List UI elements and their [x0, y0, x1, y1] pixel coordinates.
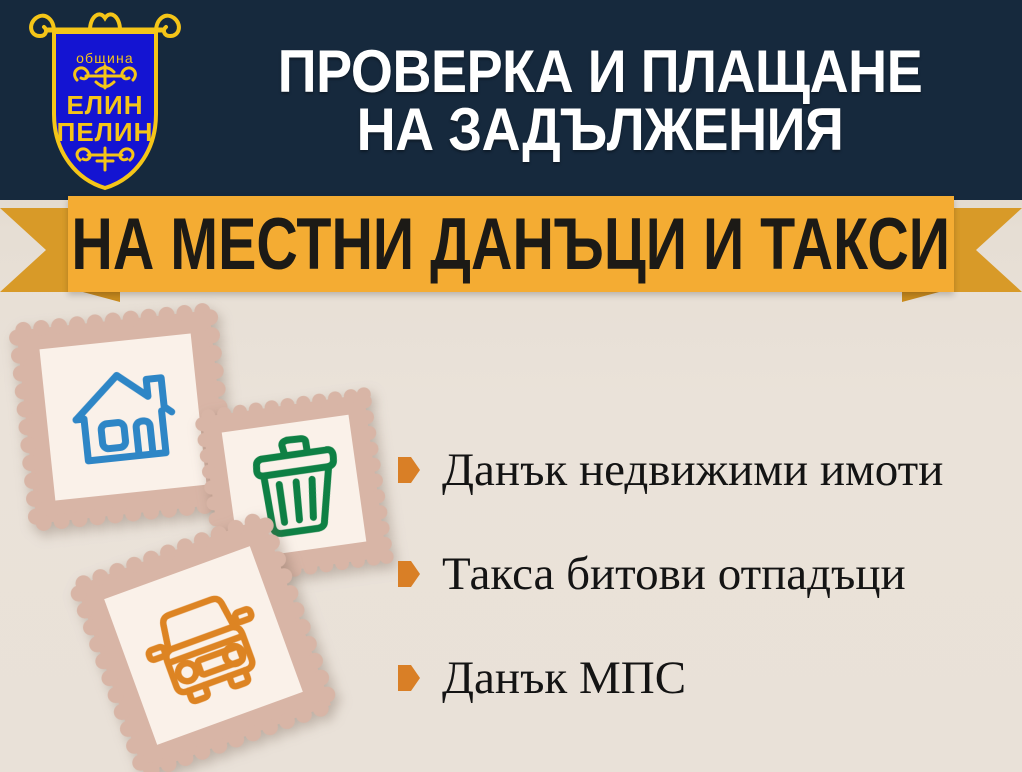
page-title: ПРОВЕРКА И ПЛАЩАНЕ НА ЗАДЪЛЖЕНИЯ: [227, 16, 972, 186]
list-item-label: Данък недвижими имоти: [442, 447, 943, 494]
svg-text:ЕЛИН: ЕЛИН: [66, 90, 143, 120]
poster-root: община ЕЛИН ПЕЛИН: [0, 0, 1022, 772]
subtitle-ribbon: НА МЕСТНИ ДАНЪЦИ И ТАКСИ: [0, 196, 1022, 300]
bullet-arrow-icon: [398, 457, 420, 483]
bullet-arrow-icon: [398, 561, 420, 587]
list-item-label: Данък МПС: [442, 655, 686, 702]
list-item[interactable]: Данък МПС: [398, 626, 1008, 730]
svg-text:ПЕЛИН: ПЕЛИН: [57, 117, 154, 147]
ribbon-label: НА МЕСТНИ ДАНЪЦИ И ТАКСИ: [72, 207, 951, 281]
list-item[interactable]: Данък недвижими имоти: [398, 418, 1008, 522]
svg-text:община: община: [76, 50, 134, 66]
ribbon-text-wrap: НА МЕСТНИ ДАНЪЦИ И ТАКСИ: [68, 196, 954, 292]
page-title-line-2: НА ЗАДЪЛЖЕНИЯ: [357, 101, 844, 159]
page-title-line-1: ПРОВЕРКА И ПЛАЩАНЕ: [278, 43, 923, 101]
tax-types-list: Данък недвижими имоти Такса битови отпад…: [398, 418, 1008, 730]
coat-of-arms-icon: община ЕЛИН ПЕЛИН: [22, 8, 188, 194]
list-item-label: Такса битови отпадъци: [442, 551, 906, 598]
bullet-arrow-icon: [398, 665, 420, 691]
list-item[interactable]: Такса битови отпадъци: [398, 522, 1008, 626]
